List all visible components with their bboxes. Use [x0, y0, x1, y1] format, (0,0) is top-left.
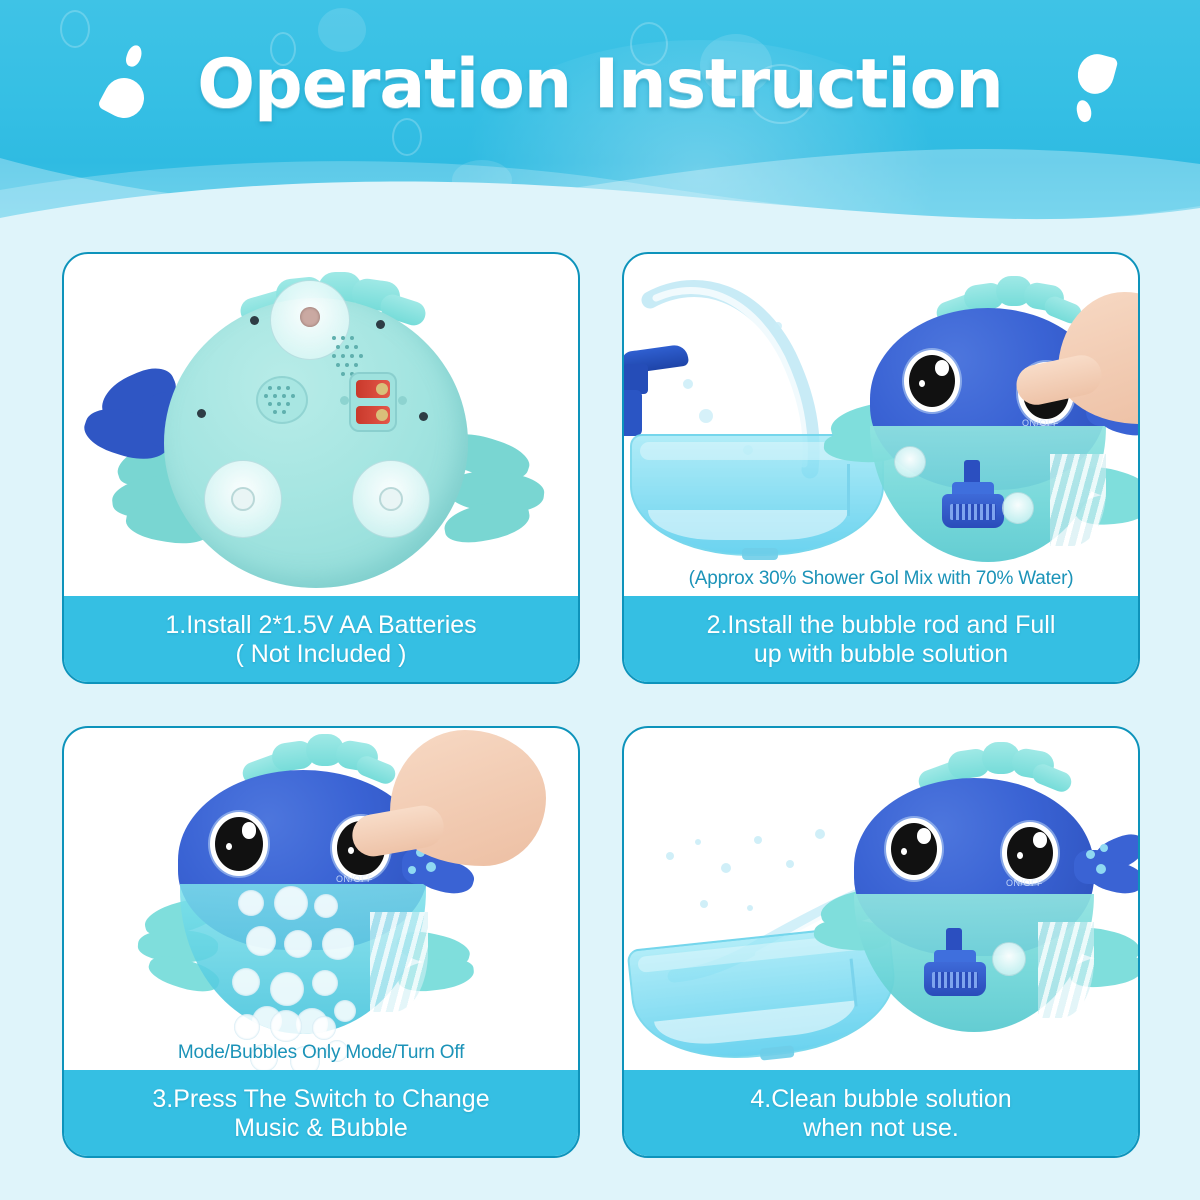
step-1-caption-line-2: ( Not Included )	[165, 640, 476, 670]
battery-compartment[interactable]	[349, 372, 397, 432]
step-2-caption: 2.Install the bubble rod and Full up wit…	[622, 596, 1140, 684]
page-title-text: Operation Instruction	[197, 48, 1003, 121]
whale-eye-left	[904, 350, 960, 412]
step-4-caption-line-2: when not use.	[750, 1114, 1011, 1144]
speaker-dot-grid	[332, 336, 368, 376]
instruction-panel-step-4: ON/OFF	[622, 726, 1140, 1158]
screw-icon	[398, 396, 407, 405]
whale-eye-left	[210, 812, 268, 876]
bubble-rod-nozzle[interactable]	[938, 460, 1008, 536]
whale-tail-icon	[1074, 838, 1138, 912]
screw-icon	[376, 320, 385, 329]
screw-icon	[419, 412, 428, 421]
hand-pressing-switch	[360, 728, 550, 918]
step-2-caption-line-1: 2.Install the bubble rod and Full	[707, 611, 1056, 641]
suction-cup	[992, 942, 1026, 976]
step-1-caption: 1.Install 2*1.5V AA Batteries ( Not Incl…	[62, 596, 580, 684]
whale-eye-switch[interactable]	[1002, 822, 1058, 884]
page-header: Operation Instruction	[0, 0, 1200, 232]
speaker-grille	[256, 376, 308, 424]
header-wave-bottom	[0, 160, 1200, 232]
whale-eye-left	[886, 818, 942, 880]
step-3-caption-line-1: 3.Press The Switch to Change	[152, 1085, 489, 1115]
suction-cup	[894, 446, 926, 478]
hand-pressing-switch	[1024, 282, 1138, 472]
step-3-note: Mode/Bubbles Only Mode/Turn Off	[64, 1042, 578, 1064]
step-2-note: (Approx 30% Shower Gol Mix with 70% Wate…	[624, 568, 1138, 590]
instruction-panel-step-3: ON/OFF	[62, 726, 580, 1158]
switch-label: ON/OFF	[1006, 878, 1043, 888]
whale-belly-stripes	[1038, 922, 1094, 1018]
suction-cup-right	[352, 460, 430, 538]
whale-fin-icon	[442, 497, 533, 547]
page-title: Operation Instruction	[0, 48, 1200, 121]
step-4-caption: 4.Clean bubble solution when not use.	[622, 1070, 1140, 1158]
screw-icon	[250, 316, 259, 325]
instruction-panel-step-2: ON/OFF (A	[622, 252, 1140, 684]
suction-cup-left	[204, 460, 282, 538]
step-4-caption-line-1: 4.Clean bubble solution	[750, 1085, 1011, 1115]
aa-battery	[356, 380, 390, 398]
aa-battery	[356, 406, 390, 424]
instruction-steps-grid: 1.Install 2*1.5V AA Batteries ( Not Incl…	[62, 252, 1140, 1158]
screw-icon	[197, 409, 206, 418]
header-bubble-icon	[60, 10, 90, 48]
step-3-caption-line-2: Music & Bubble	[152, 1114, 489, 1144]
step-1-caption-line-1: 1.Install 2*1.5V AA Batteries	[165, 611, 476, 641]
bubble-rod-nozzle[interactable]	[920, 928, 990, 1004]
suction-cup	[1002, 492, 1034, 524]
whale-toy-step-4: ON/OFF	[824, 742, 1138, 1062]
step-3-caption: 3.Press The Switch to Change Music & Bub…	[62, 1070, 580, 1158]
step-2-caption-line-2: up with bubble solution	[707, 640, 1056, 670]
whale-belly-stripes	[370, 912, 428, 1012]
screw-icon	[340, 396, 349, 405]
instruction-panel-step-1: 1.Install 2*1.5V AA Batteries ( Not Incl…	[62, 252, 580, 684]
